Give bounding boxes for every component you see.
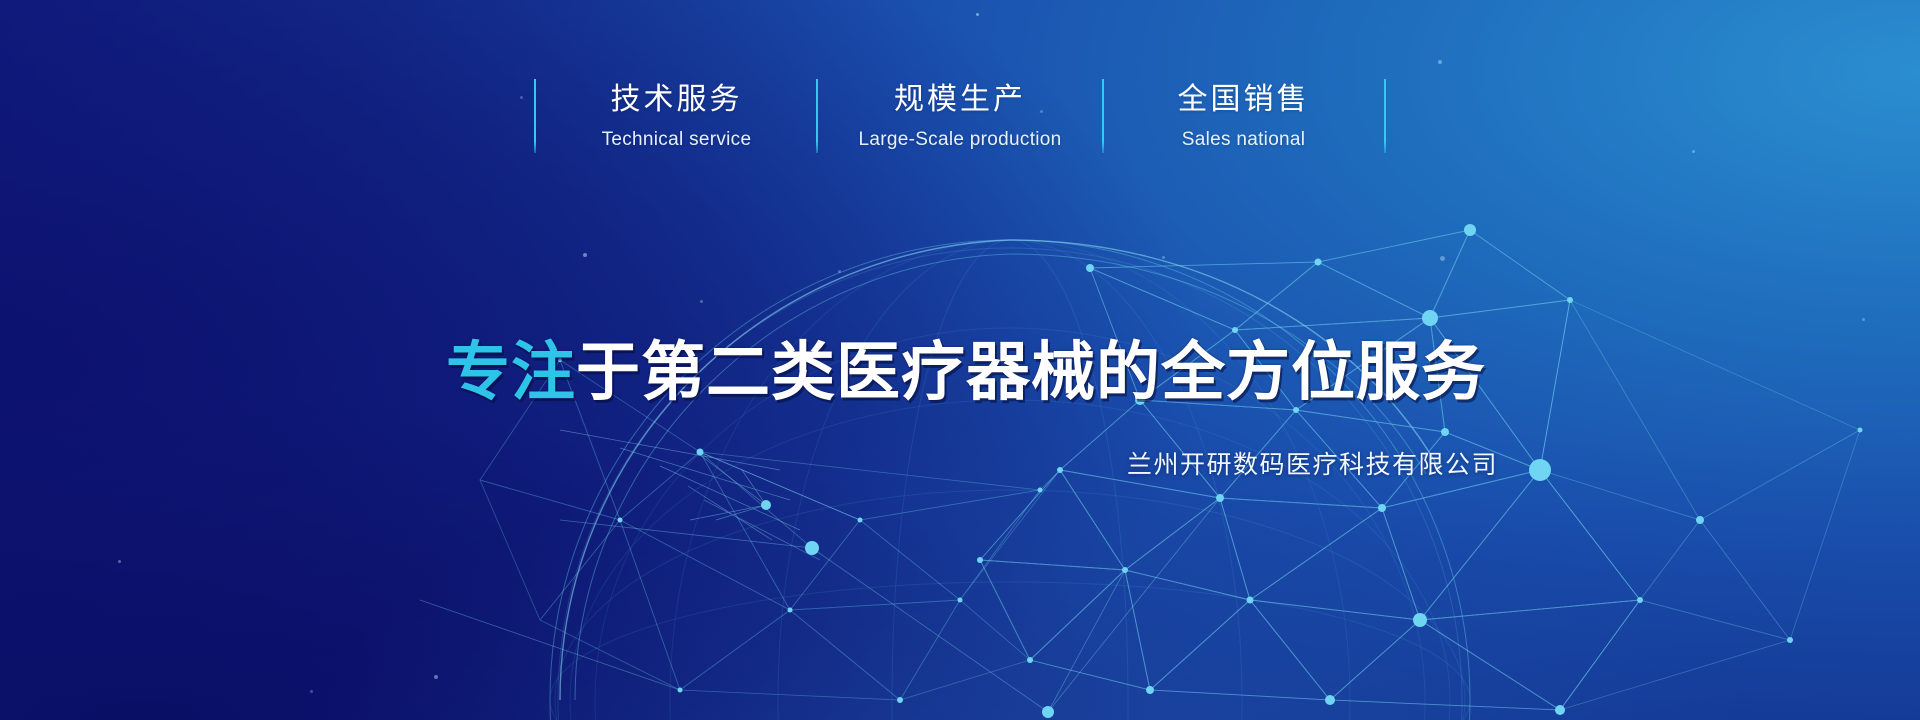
particle-dot	[310, 690, 313, 693]
headline-main-text: 于第二类医疗器械的全方位服务	[576, 336, 1486, 408]
feature-item-technical-service[interactable]: 技术服务 Technical service	[536, 78, 816, 154]
company-name: 兰州开研数码医疗科技有限公司	[446, 448, 1498, 482]
particle-dot	[118, 560, 121, 563]
particle-dot	[1438, 60, 1442, 64]
feature-title-en: Technical service	[602, 126, 752, 154]
particle-dot	[700, 300, 703, 303]
particle-dot	[1162, 256, 1165, 259]
feature-item-large-scale-production[interactable]: 规模生产 Large-Scale production	[818, 78, 1101, 154]
particle-dot	[838, 270, 841, 273]
hero-banner: 技术服务 Technical service 规模生产 Large-Scale …	[0, 0, 1920, 720]
particle-dot	[1440, 256, 1445, 261]
feature-nav: 技术服务 Technical service 规模生产 Large-Scale …	[0, 78, 1920, 154]
particle-dot	[1862, 318, 1865, 321]
feature-title-en: Sales national	[1182, 126, 1306, 154]
particle-dot	[434, 675, 438, 679]
feature-item-sales-national[interactable]: 全国销售 Sales national	[1104, 78, 1384, 154]
feature-title-en: Large-Scale production	[858, 126, 1061, 154]
particle-dot	[976, 13, 979, 16]
page-title: 专注于第二类医疗器械的全方位服务	[446, 330, 1498, 414]
feature-divider-right	[1384, 79, 1386, 153]
particle-dot	[583, 253, 587, 257]
feature-title-cn: 规模生产	[894, 78, 1026, 122]
headline-block: 专注于第二类医疗器械的全方位服务 兰州开研数码医疗科技有限公司	[446, 330, 1498, 482]
headline-accent-text: 专注	[446, 336, 576, 408]
feature-title-cn: 技术服务	[610, 78, 742, 122]
feature-title-cn: 全国销售	[1178, 78, 1310, 122]
